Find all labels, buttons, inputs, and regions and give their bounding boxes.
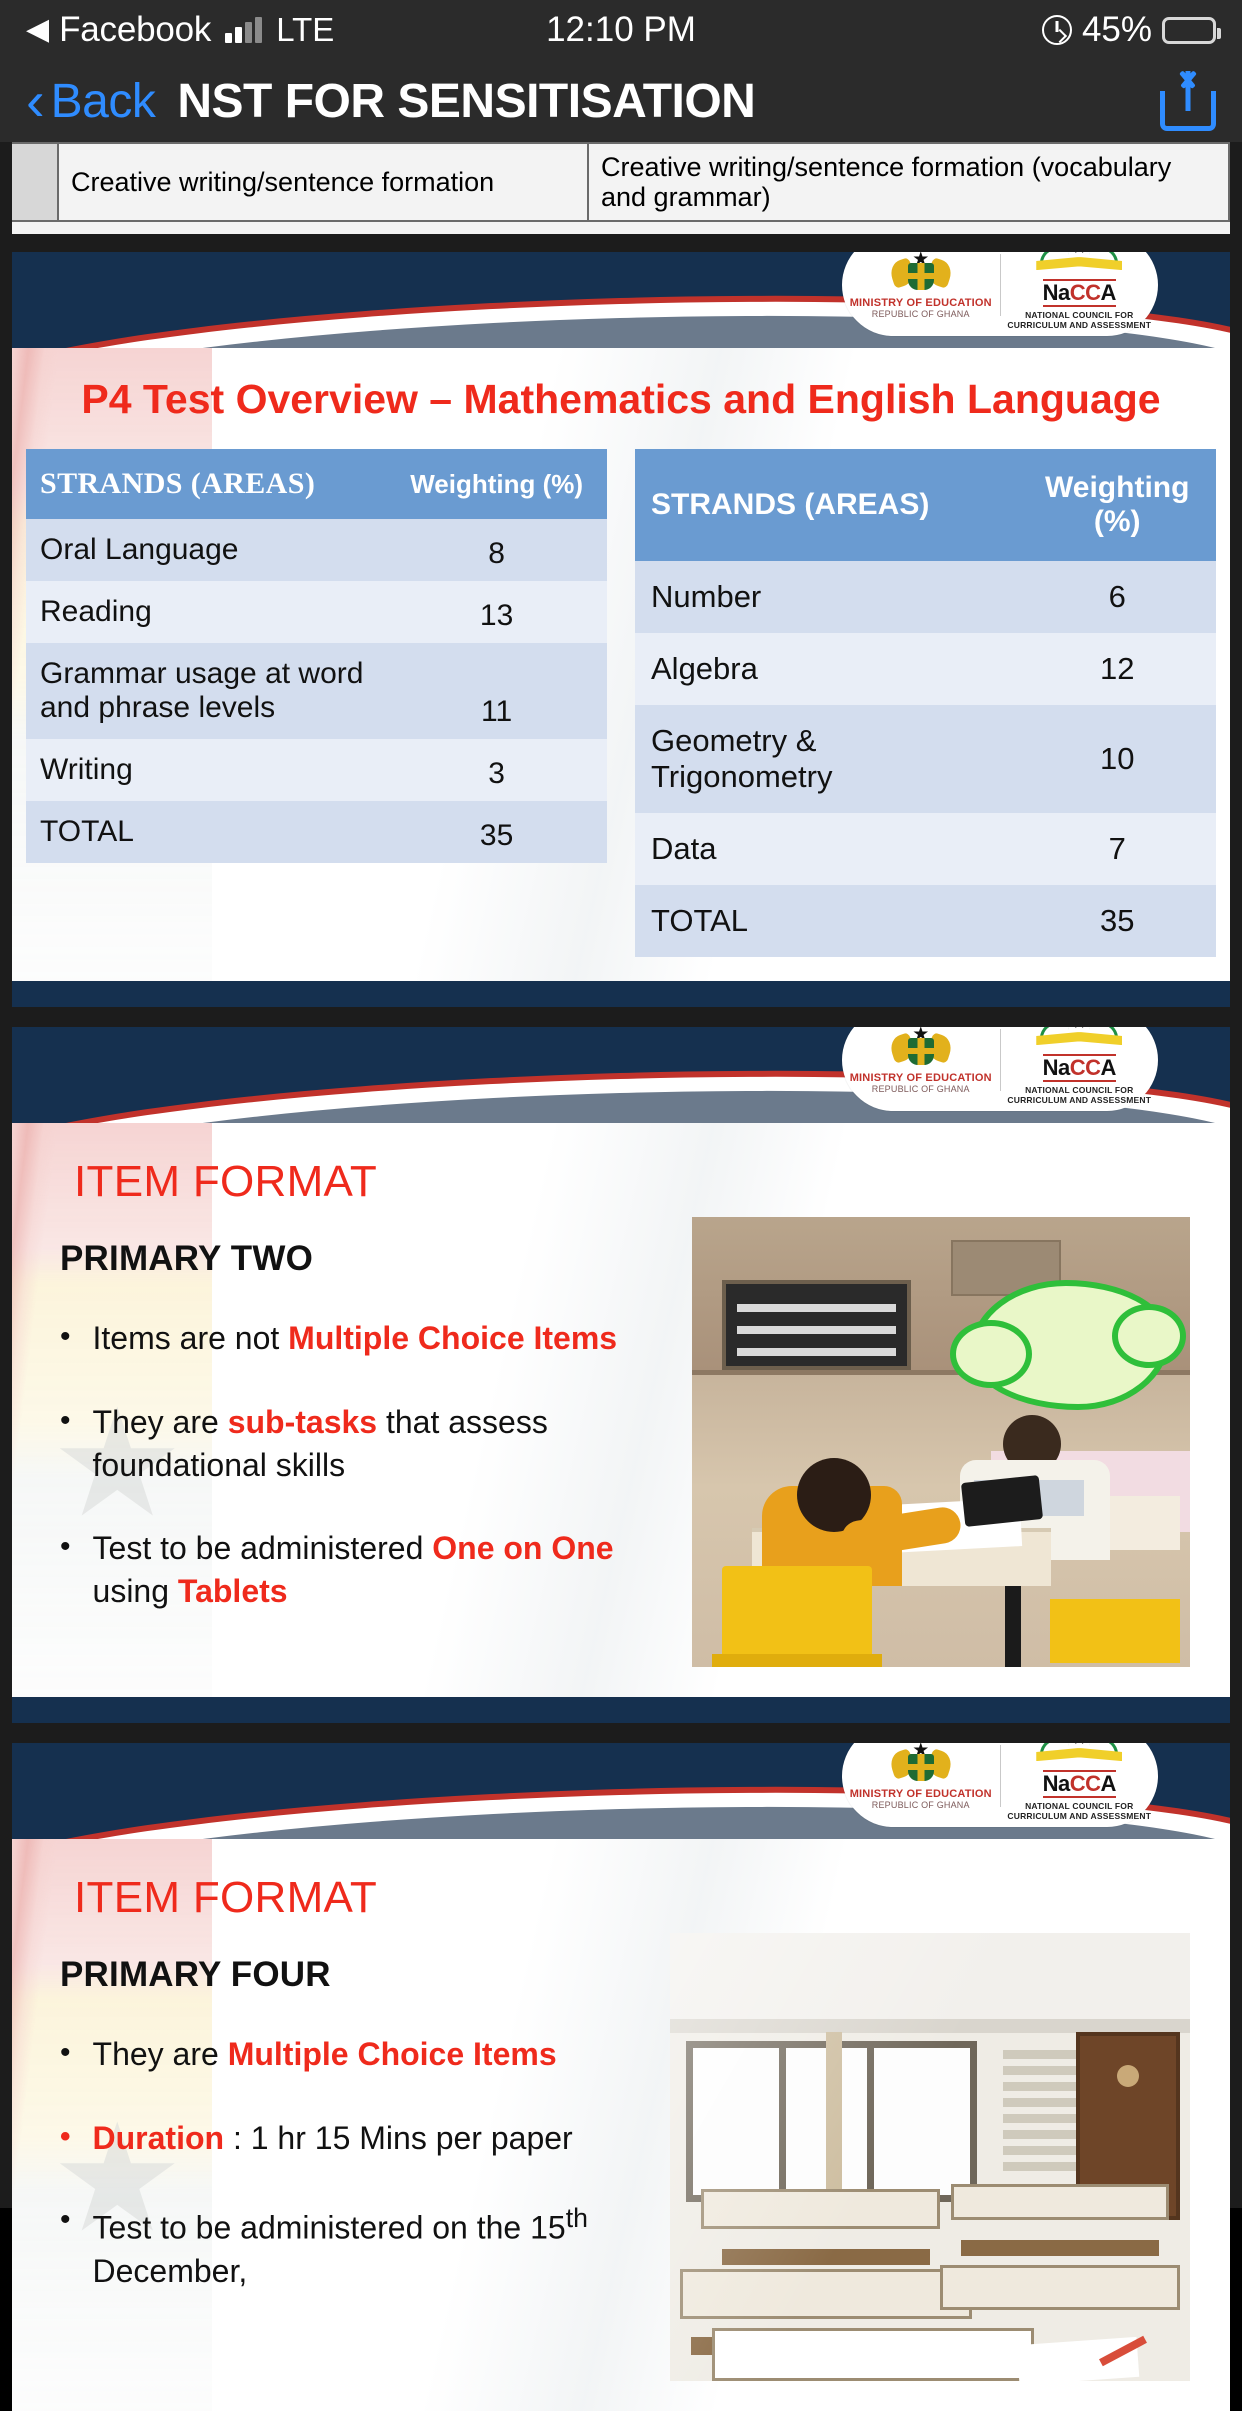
fragment-cell-left: Creative writing/sentence formation xyxy=(58,143,588,221)
slide-photo-column xyxy=(652,1933,1230,2381)
page-title: NST FOR SENSITISATION xyxy=(177,74,755,129)
list-item: •Items are not Multiple Choice Items xyxy=(60,1317,632,1360)
row-gutter xyxy=(12,143,58,221)
strand-name: Oral Language xyxy=(26,519,386,581)
slide-photo-column xyxy=(652,1217,1230,1667)
slide-header-band: ★ MINISTRY OF EDUCATION REPUBLIC OF GHAN… xyxy=(12,252,1230,348)
nacca-subtitle: NATIONAL COUNCIL FORCURRICULUM AND ASSES… xyxy=(1007,1085,1151,1106)
table-header-row: STRANDS (AREAS) Weighting (%) xyxy=(635,449,1216,561)
strand-weight: 6 xyxy=(1018,561,1216,633)
strand-name: Reading xyxy=(26,581,386,643)
slide-text-column: PRIMARY TWO •Items are not Multiple Choi… xyxy=(12,1217,652,1667)
nacca-subtitle: NATIONAL COUNCIL FORCURRICULUM AND ASSES… xyxy=(1007,310,1151,331)
slide-subtitle: PRIMARY FOUR xyxy=(60,1955,632,1995)
bullet-icon: • xyxy=(60,1317,71,1360)
battery-percent-label: 45% xyxy=(1082,10,1152,50)
table-row: Algebra 12 xyxy=(635,633,1216,705)
status-right: 45% xyxy=(1042,10,1216,50)
moe-title: MINISTRY OF EDUCATION xyxy=(850,1072,992,1084)
bullet-text: They are Multiple Choice Items xyxy=(93,2033,632,2076)
slide-header-band: ★ MINISTRY OF EDUCATION REPUBLIC OF GHAN… xyxy=(12,1743,1230,1839)
table-row: Grammar usage at word and phrase levels … xyxy=(26,643,607,739)
slide-separator xyxy=(0,1723,1242,1743)
ministry-of-education-logo: ★ MINISTRY OF EDUCATION REPUBLIC OF GHAN… xyxy=(842,252,1000,325)
nacca-logo: ★ NaCCA NATIONAL COUNCIL FORCURRICULUM A… xyxy=(1001,252,1159,336)
bullet-icon: • xyxy=(60,2200,71,2293)
share-icon[interactable] xyxy=(1160,71,1216,131)
table-row: Data 7 xyxy=(635,813,1216,885)
moe-subtitle: REPUBLIC OF GHANA xyxy=(872,1084,970,1094)
institution-logo-badge: ★ MINISTRY OF EDUCATION REPUBLIC OF GHAN… xyxy=(842,1743,1158,1827)
slide-text-column: PRIMARY FOUR •They are Multiple Choice I… xyxy=(12,1933,652,2381)
strand-weight: 11 xyxy=(386,643,607,739)
slide-p4-test-overview: ★ MINISTRY OF EDUCATION REPUBLIC OF GHAN… xyxy=(12,252,1230,1007)
nacca-wordmark: NaCCA xyxy=(1043,1770,1116,1798)
back-button[interactable]: ‹ Back xyxy=(26,74,155,129)
table-row: Creative writing/sentence formation Crea… xyxy=(12,143,1229,221)
ghana-coat-of-arms-icon: ★ xyxy=(892,1027,950,1069)
list-item: •Test to be administered on the 15th Dec… xyxy=(60,2200,632,2293)
english-strands-table: STRANDS (AREAS) Weighting (%) Oral Langu… xyxy=(26,449,607,863)
photo-classroom-test-session xyxy=(670,1933,1190,2381)
document-scroll-area[interactable]: Creative writing/sentence formation Crea… xyxy=(0,142,1242,2208)
rotation-lock-icon xyxy=(1042,15,1072,45)
strand-name: Number xyxy=(635,561,1018,633)
strand-weight: 3 xyxy=(386,739,607,801)
strand-name: Data xyxy=(635,813,1018,885)
slide-title: ITEM FORMAT xyxy=(12,1839,1230,1933)
slide-header-band: ★ MINISTRY OF EDUCATION REPUBLIC OF GHAN… xyxy=(12,1027,1230,1123)
slide-separator xyxy=(0,1007,1242,1027)
slide-body: ★ P4 Test Overview – Mathematics and Eng… xyxy=(12,348,1230,981)
strand-weight: 10 xyxy=(1018,705,1216,813)
strand-weight: 8 xyxy=(386,519,607,581)
slide-footer-band xyxy=(12,981,1230,1007)
table-row: Reading 13 xyxy=(26,581,607,643)
ghana-coat-of-arms-icon: ★ xyxy=(892,252,950,294)
institution-logo-badge: ★ MINISTRY OF EDUCATION REPUBLIC OF GHAN… xyxy=(842,1027,1158,1111)
slide-body: ★ ITEM FORMAT PRIMARY TWO •Items are not… xyxy=(12,1123,1230,1697)
nacca-wordmark: NaCCA xyxy=(1043,1054,1116,1082)
moe-title: MINISTRY OF EDUCATION xyxy=(850,297,992,309)
bullet-icon: • xyxy=(60,2033,71,2076)
slide-footer-band xyxy=(12,1697,1230,1723)
battery-icon xyxy=(1162,17,1216,44)
list-item: •They are sub-tasks that assess foundati… xyxy=(60,1401,632,1487)
maths-table-wrap: STRANDS (AREAS) Weighting (%) Number 6 A… xyxy=(635,449,1216,957)
bullet-text: Duration : 1 hr 15 Mins per paper xyxy=(93,2117,632,2160)
maths-strands-table: STRANDS (AREAS) Weighting (%) Number 6 A… xyxy=(635,449,1216,957)
column-header-strands: STRANDS (AREAS) xyxy=(635,449,1018,561)
signal-bars-icon xyxy=(225,17,262,43)
strand-tables-container: STRANDS (AREAS) Weighting (%) Oral Langu… xyxy=(12,449,1230,981)
previous-slide-table-fragment: Creative writing/sentence formation Crea… xyxy=(0,142,1242,234)
nacca-subtitle: NATIONAL COUNCIL FORCURRICULUM AND ASSES… xyxy=(1007,1801,1151,1822)
nacca-wordmark: NaCCA xyxy=(1043,279,1116,307)
nacca-book-star-icon: ★ xyxy=(1033,252,1125,280)
strand-weight: 35 xyxy=(386,801,607,863)
bullet-text: They are sub-tasks that assess foundatio… xyxy=(93,1401,632,1487)
network-type-label: LTE xyxy=(276,11,334,49)
slide-title: P4 Test Overview – Mathematics and Engli… xyxy=(12,348,1230,449)
chevron-left-icon: ‹ xyxy=(26,79,45,124)
carrier-label: Facebook xyxy=(59,10,211,50)
strand-name: Grammar usage at word and phrase levels xyxy=(26,643,386,739)
slide-separator xyxy=(0,234,1242,252)
slide-content-grid: PRIMARY TWO •Items are not Multiple Choi… xyxy=(12,1217,1230,1697)
table-row: Geometry & Trigonometry 10 xyxy=(635,705,1216,813)
slide-subtitle: PRIMARY TWO xyxy=(60,1239,632,1279)
ministry-of-education-logo: ★ MINISTRY OF EDUCATION REPUBLIC OF GHAN… xyxy=(842,1743,1000,1816)
table-row-total: TOTAL 35 xyxy=(635,885,1216,957)
list-item: •They are Multiple Choice Items xyxy=(60,2033,632,2076)
strand-name: TOTAL xyxy=(635,885,1018,957)
photo-one-on-one-tablet-assessment xyxy=(692,1217,1190,1667)
slide-body: ★ ITEM FORMAT PRIMARY FOUR •They are Mul… xyxy=(12,1839,1230,2411)
fragment-bottom-strip xyxy=(12,222,1230,234)
strand-name: Writing xyxy=(26,739,386,801)
table-row: Oral Language 8 xyxy=(26,519,607,581)
table-row: Number 6 xyxy=(635,561,1216,633)
column-header-weighting: Weighting (%) xyxy=(1018,449,1216,561)
list-item: •Duration : 1 hr 15 Mins per paper xyxy=(60,2117,632,2160)
back-button-label: Back xyxy=(51,74,156,129)
slide-item-format-primary-two: ★ MINISTRY OF EDUCATION REPUBLIC OF GHAN… xyxy=(12,1027,1230,1723)
english-table-wrap: STRANDS (AREAS) Weighting (%) Oral Langu… xyxy=(26,449,607,863)
institution-logo-badge: ★ MINISTRY OF EDUCATION REPUBLIC OF GHAN… xyxy=(842,252,1158,336)
strand-name: TOTAL xyxy=(26,801,386,863)
nacca-logo: ★ NaCCA NATIONAL COUNCIL FORCURRICULUM A… xyxy=(1001,1027,1159,1111)
nacca-logo: ★ NaCCA NATIONAL COUNCIL FORCURRICULUM A… xyxy=(1001,1743,1159,1827)
fragment-cell-right: Creative writing/sentence formation (voc… xyxy=(588,143,1229,221)
bullet-text: Test to be administered on the 15th Dece… xyxy=(93,2200,632,2293)
moe-subtitle: REPUBLIC OF GHANA xyxy=(872,1800,970,1810)
moe-subtitle: REPUBLIC OF GHANA xyxy=(872,309,970,319)
nacca-book-star-icon: ★ xyxy=(1033,1743,1125,1771)
back-to-app-arrow-icon[interactable]: ◀ xyxy=(26,15,49,45)
strand-fragment-table: Creative writing/sentence formation Crea… xyxy=(12,142,1230,222)
strand-weight: 13 xyxy=(386,581,607,643)
bullet-text: Test to be administered One on One using… xyxy=(93,1527,632,1613)
slide-content-grid: PRIMARY FOUR •They are Multiple Choice I… xyxy=(12,1933,1230,2411)
column-header-strands: STRANDS (AREAS) xyxy=(26,449,386,519)
table-row-total: TOTAL 35 xyxy=(26,801,607,863)
bullet-icon: • xyxy=(60,2117,71,2160)
slide-item-format-primary-four: ★ MINISTRY OF EDUCATION REPUBLIC OF GHAN… xyxy=(12,1743,1230,2411)
strand-name: Geometry & Trigonometry xyxy=(635,705,1018,813)
strand-weight: 35 xyxy=(1018,885,1216,957)
bullet-icon: • xyxy=(60,1527,71,1613)
bullet-icon: • xyxy=(60,1401,71,1487)
moe-title: MINISTRY OF EDUCATION xyxy=(850,1788,992,1800)
ghana-coat-of-arms-icon: ★ xyxy=(892,1743,950,1785)
bullet-list: •Items are not Multiple Choice Items •Th… xyxy=(60,1317,632,1613)
bullet-list: •They are Multiple Choice Items •Duratio… xyxy=(60,2033,632,2292)
nacca-book-star-icon: ★ xyxy=(1033,1027,1125,1055)
ios-status-bar: ◀ Facebook LTE 12:10 PM 45% xyxy=(0,0,1242,60)
strand-name: Algebra xyxy=(635,633,1018,705)
list-item: •Test to be administered One on One usin… xyxy=(60,1527,632,1613)
strand-weight: 12 xyxy=(1018,633,1216,705)
strand-weight: 7 xyxy=(1018,813,1216,885)
ministry-of-education-logo: ★ MINISTRY OF EDUCATION REPUBLIC OF GHAN… xyxy=(842,1027,1000,1100)
table-row: Writing 3 xyxy=(26,739,607,801)
status-left: ◀ Facebook LTE xyxy=(26,10,334,50)
bullet-text: Items are not Multiple Choice Items xyxy=(93,1317,632,1360)
column-header-weighting: Weighting (%) xyxy=(386,449,607,519)
navigation-bar: ‹ Back NST FOR SENSITISATION xyxy=(0,60,1242,142)
table-header-row: STRANDS (AREAS) Weighting (%) xyxy=(26,449,607,519)
slide-title: ITEM FORMAT xyxy=(12,1123,1230,1217)
